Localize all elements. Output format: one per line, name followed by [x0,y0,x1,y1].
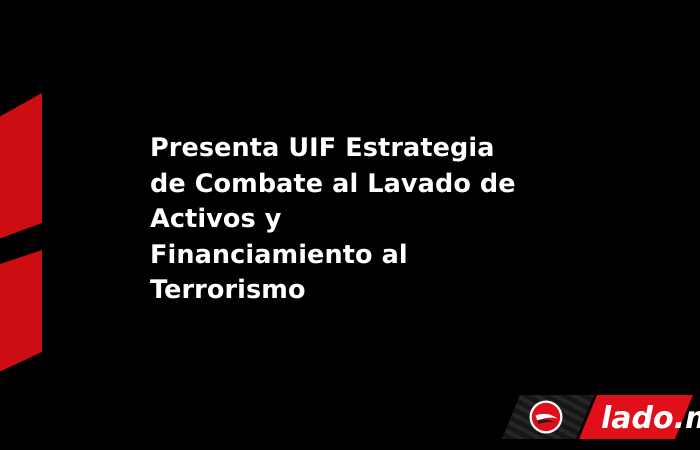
news-share-card: Presenta UIF Estrategia de Combate al La… [0,0,700,450]
red-chevron-bottom-shape [0,250,42,377]
red-chevron-top-shape [0,93,42,243]
brand-wordmark: lado.mx [601,401,700,436]
red-chevron-shapes [0,0,60,450]
brand-logo[interactable]: lado.mx [498,388,700,446]
swoosh-circle-icon [530,401,563,434]
page-title: Presenta UIF Estrategia de Combate al La… [150,131,580,309]
